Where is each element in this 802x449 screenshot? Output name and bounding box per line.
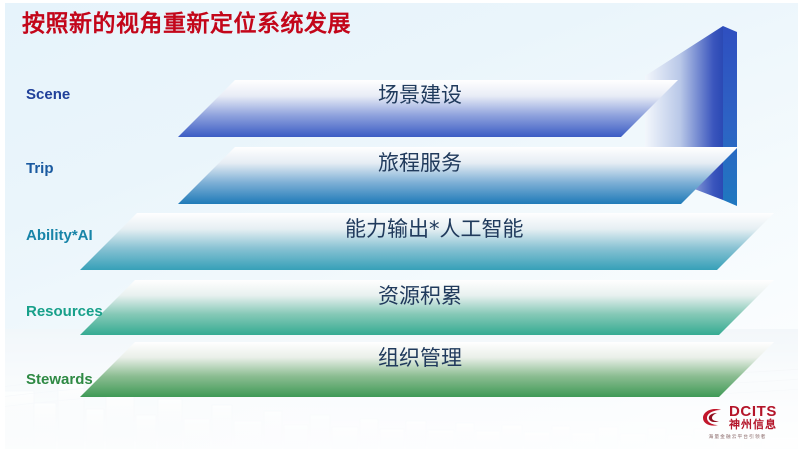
layer-text-resources: 资源积累 <box>378 280 462 310</box>
layer-label-stewards: Stewards <box>26 371 93 388</box>
layer-text-trip: 旅程服务 <box>378 147 462 177</box>
slide-canvas: Scene 场景建设 Trip 旅程服务 <box>0 0 802 449</box>
layer-text-ability-ai: 能力输出*人工智能 <box>345 213 524 243</box>
layer-text-scene: 场景建设 <box>378 79 462 109</box>
frame-edge-right <box>798 0 802 449</box>
frame-edge-left <box>0 0 5 449</box>
logo-tagline: 海量金融云平台引领者 <box>709 433 767 440</box>
frame-edge-top <box>0 0 802 3</box>
logo-brand-en: DCITS <box>729 404 777 419</box>
layer-label-scene: Scene <box>26 86 70 103</box>
swoosh-icon <box>699 405 725 431</box>
page-title: 按照新的视角重新定位系统发展 <box>22 4 351 38</box>
dcits-logo: DCITS 神州信息 海量金融云平台引领者 <box>682 401 794 443</box>
layer-label-ability-ai: Ability*AI <box>26 227 93 244</box>
layer-text-stewards: 组织管理 <box>378 342 462 372</box>
logo-brand-cn: 神州信息 <box>729 420 777 431</box>
logo-main: DCITS 神州信息 <box>699 404 777 431</box>
layer-label-resources: Resources <box>26 303 103 320</box>
logo-wordmark: DCITS 神州信息 <box>729 404 777 431</box>
layer-label-trip: Trip <box>26 160 54 177</box>
